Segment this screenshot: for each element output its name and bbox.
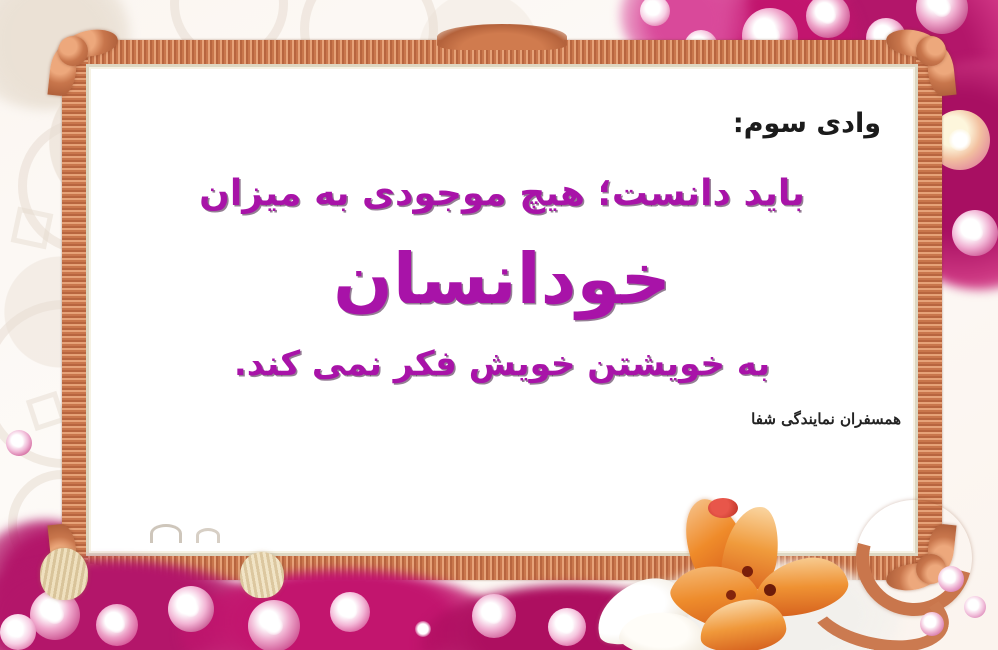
pale-curl-decor bbox=[150, 524, 182, 543]
pink-sprig bbox=[938, 566, 964, 592]
lily-stamen bbox=[742, 566, 753, 577]
cream-bud-ornament bbox=[240, 552, 284, 598]
crest-scroll-ornament bbox=[437, 24, 567, 50]
quote-content: وادی سوم: باید دانست؛ هیچ موجودی به میزا… bbox=[95, 72, 909, 548]
pink-sprig bbox=[964, 596, 986, 618]
kicker-row: وادی سوم: bbox=[95, 72, 909, 139]
footer-row: همسفران نمایندگی شفا bbox=[95, 410, 909, 428]
pink-sprig bbox=[920, 612, 944, 636]
quote-line-1: باید دانست؛ هیچ موجودی به میزان bbox=[199, 173, 805, 214]
watermark-square bbox=[11, 207, 54, 250]
lily-stamen bbox=[726, 590, 736, 600]
pale-curl-decor bbox=[196, 528, 220, 543]
frame-left-bar bbox=[62, 40, 88, 580]
lily-bud-red bbox=[708, 498, 738, 518]
quote-line-3: به خویشتن خویش فکر نمی کند. bbox=[234, 344, 770, 384]
quote-card-image: وادی سوم: باید دانست؛ هیچ موجودی به میزا… bbox=[0, 0, 998, 650]
kicker-text: وادی سوم: bbox=[733, 108, 881, 139]
lily-stamen bbox=[764, 584, 776, 596]
cream-bud-ornament bbox=[40, 548, 88, 600]
quote-highlight-word: خودانسان bbox=[333, 238, 671, 320]
footer-attribution: همسفران نمایندگی شفا bbox=[751, 410, 901, 428]
